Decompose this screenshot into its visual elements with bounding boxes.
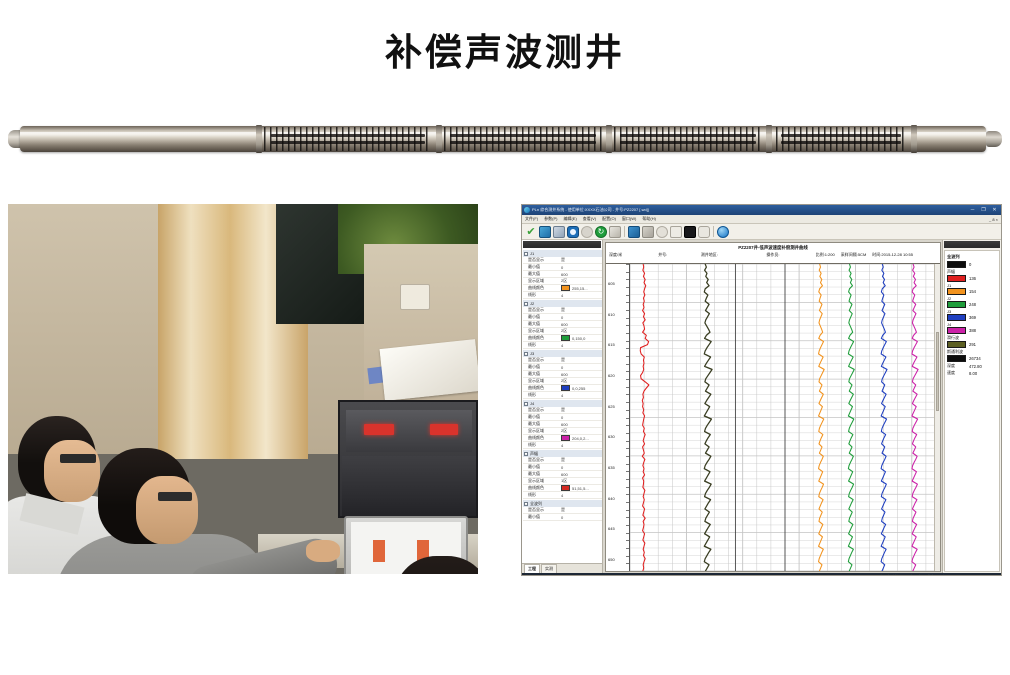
property-row[interactable]: 最小值0 — [523, 364, 602, 371]
property-value[interactable]: 是 — [561, 507, 602, 513]
readout-label: 速度 — [947, 370, 966, 376]
property-label: 最大值 — [528, 271, 561, 277]
property-group-header[interactable]: -J3 — [523, 350, 602, 357]
sonde-isolator-slots — [776, 127, 906, 151]
sonde-isolator-slots — [614, 127, 762, 151]
color-swatch[interactable] — [561, 335, 570, 341]
sonde-joint-ring — [256, 125, 262, 153]
legend-title: 全波列 — [947, 254, 997, 260]
property-value-text: 2区 — [561, 428, 567, 434]
property-label: 曲线颜色 — [528, 435, 561, 441]
property-value-text: 0,0,255 — [572, 386, 585, 391]
depth-tick — [626, 563, 629, 564]
field-operator: 操作员: — [766, 252, 815, 258]
property-label: 显示区域 — [528, 278, 561, 284]
depth-tick — [626, 356, 629, 357]
photo-rack-panel — [346, 410, 472, 452]
depth-tick — [626, 272, 629, 273]
property-row[interactable]: 曲线颜色255,15... — [523, 285, 602, 292]
property-label: 线形 — [528, 292, 561, 298]
depth-tick — [626, 517, 629, 518]
expander-icon[interactable]: - — [524, 452, 528, 456]
toolbar-separator — [624, 226, 625, 237]
mdi-window-controls[interactable]: _ 8 × — [989, 217, 998, 222]
property-row[interactable]: 线形4 — [523, 342, 602, 349]
legend-entry-value: 26734 — [969, 356, 981, 361]
chart-icon[interactable] — [553, 226, 565, 238]
photo-rack-lower — [342, 456, 476, 516]
property-value[interactable]: 1区 — [561, 478, 602, 484]
property-value-text: 0 — [561, 465, 563, 470]
property-group-header[interactable]: -J1 — [523, 250, 602, 257]
property-value[interactable]: 0 — [561, 315, 602, 320]
log-canvas[interactable]: 605610615620625630635640645650 — [606, 264, 940, 571]
depth-tick — [626, 402, 629, 403]
legend-list: 全波列0声幅136J1154J2248J3369J4388滑行波291斯通利波2… — [944, 250, 1000, 572]
property-row[interactable]: 线形4 — [523, 442, 602, 449]
property-row[interactable]: 最小值0 — [523, 264, 602, 271]
legend-entry-value: 0 — [969, 262, 971, 267]
property-value[interactable]: 0,150,0 — [561, 335, 602, 341]
depth-tick — [626, 494, 629, 495]
property-row[interactable]: 是否显示是 — [523, 357, 602, 364]
legend-entry-value: 248 — [969, 302, 976, 307]
property-row[interactable]: 曲线颜色204,0,2... — [523, 435, 602, 442]
property-label: 最小值 — [528, 414, 561, 420]
property-group[interactable]: -J2是否显示是最小值0最大值600显示区域2区曲线颜色0,150,0线形4 — [523, 300, 602, 349]
legend-entry[interactable]: 136 — [947, 275, 997, 282]
property-value-text: 2区 — [561, 378, 567, 384]
status-company: 北京中地星通物探仪器有限公司 — [902, 575, 956, 577]
property-group[interactable]: -J1是否显示是最小值0最大值600显示区域2区曲线颜色255,15...线形4 — [523, 250, 602, 299]
depth-tick — [626, 410, 629, 411]
property-label: 曲线颜色 — [528, 335, 561, 341]
clock-icon[interactable] — [656, 226, 668, 238]
color-swatch[interactable] — [561, 435, 570, 441]
property-label: 显示区域 — [528, 478, 561, 484]
property-row[interactable]: 显示区域2区 — [523, 378, 602, 385]
property-label: 显示区域 — [528, 428, 561, 434]
log-header: PZ2207井-低声波速度补偿测井曲线 深度/米 井号: 测井地区: 操作员: … — [606, 243, 940, 264]
property-row[interactable]: 最小值0 — [523, 314, 602, 321]
property-row[interactable]: 曲线颜色0,150,0 — [523, 335, 602, 342]
legend-entry-value: 136 — [969, 276, 976, 281]
property-group-label: J4 — [530, 401, 534, 406]
property-group[interactable]: -全波列是否显示是最小值0 — [523, 500, 602, 521]
property-value[interactable]: 2区 — [561, 428, 602, 434]
depth-tick — [626, 333, 629, 334]
panel-header — [523, 241, 601, 248]
property-row[interactable]: 最小值0 — [523, 414, 602, 421]
property-label: 线形 — [528, 392, 561, 398]
scrollbar-thumb[interactable] — [936, 332, 939, 412]
property-label: 线形 — [528, 342, 561, 348]
property-value-text: 是 — [561, 257, 565, 263]
property-value-text: 4 — [561, 343, 563, 348]
menu-item-params[interactable]: 参数(P) — [544, 216, 557, 222]
property-value-text: 204,0,2... — [572, 436, 589, 441]
color-swatch[interactable] — [561, 485, 570, 491]
toolbar[interactable]: ✔ ↻ — [522, 224, 1001, 240]
curve-parameter-panel[interactable]: -J1是否显示是最小值0最大值600显示区域2区曲线颜色255,15...线形4… — [522, 240, 603, 573]
expander-icon[interactable]: - — [524, 352, 528, 356]
property-value[interactable]: 4 — [561, 393, 602, 398]
legend-entry[interactable]: 388 — [947, 327, 997, 334]
property-row[interactable]: 最大值600 — [523, 421, 602, 428]
legend-color-swatch[interactable] — [947, 288, 966, 295]
depth-tick — [626, 279, 629, 280]
property-value-text: 600 — [561, 422, 568, 427]
depth-tick — [626, 318, 629, 319]
menu-item-edit[interactable]: 编辑(E) — [563, 216, 576, 222]
property-group-header[interactable]: -声幅 — [523, 450, 602, 457]
field-time: 时间:2015-12-28 10:55 — [872, 252, 913, 258]
window-title: PLn 综合测井系统 - 使用单位:XXXX石油公司 - 井号:PZ2207 [… — [532, 207, 966, 213]
property-value-text: 是 — [561, 507, 565, 513]
legend-panel[interactable]: 全波列0声幅136J1154J2248J3369J4388滑行波291斯通利波2… — [942, 240, 1001, 573]
depth-tick — [626, 425, 629, 426]
legend-readout: 速度8.00 — [947, 370, 997, 376]
legend-panel-header — [944, 241, 1000, 248]
property-value[interactable]: 4 — [561, 343, 602, 348]
property-value-text: 255,15... — [572, 286, 588, 291]
property-label: 是否显示 — [528, 407, 561, 413]
property-label: 曲线颜色 — [528, 285, 561, 291]
property-group-label: J1 — [530, 251, 534, 256]
property-group[interactable]: -J4是否显示是最小值0最大值600显示区域2区曲线颜色204,0,2...线形… — [523, 400, 602, 449]
depth-tick — [626, 456, 629, 457]
property-value-text: 600 — [561, 372, 568, 377]
property-value-text: 2区 — [561, 328, 567, 334]
property-value[interactable]: 4 — [561, 493, 602, 498]
window-icon[interactable] — [670, 226, 682, 238]
depth-tick — [626, 548, 629, 549]
property-group-label: J3 — [530, 351, 534, 356]
photo-documents — [380, 339, 478, 401]
property-value[interactable]: 是 — [561, 257, 602, 263]
depth-label: 625 — [608, 404, 615, 409]
property-value[interactable]: 2区 — [561, 328, 602, 334]
property-value[interactable]: 600 — [561, 322, 602, 327]
depth-tick — [626, 387, 629, 388]
property-row[interactable]: 显示区域2区 — [523, 278, 602, 285]
property-label: 线形 — [528, 442, 561, 448]
depth-tick — [626, 479, 629, 480]
field-crew-photo — [8, 204, 478, 574]
property-group-label: 声幅 — [530, 451, 538, 457]
stop-icon[interactable] — [581, 226, 593, 238]
photo-led-display — [430, 424, 458, 435]
legend-entry[interactable]: 248 — [947, 301, 997, 308]
display-icon[interactable] — [628, 226, 640, 238]
legend-color-swatch[interactable] — [947, 341, 966, 348]
expander-icon[interactable]: - — [524, 502, 528, 506]
color-swatch[interactable] — [561, 385, 570, 391]
property-label: 最大值 — [528, 321, 561, 327]
property-value[interactable]: 51,51,5... — [561, 485, 602, 491]
log-sheet[interactable]: PZ2207井-低声波速度补偿测井曲线 深度/米 井号: 测井地区: 操作员: … — [605, 242, 941, 572]
property-value-text: 0,150,0 — [572, 336, 585, 341]
depth-tick — [626, 533, 629, 534]
photo-person-face — [44, 440, 100, 502]
logging-software-window[interactable]: PLn 综合测井系统 - 使用单位:XXXX石油公司 - 井号:PZ2207 [… — [521, 204, 1002, 576]
property-label: 线形 — [528, 492, 561, 498]
grid-icon[interactable] — [684, 226, 696, 238]
menu-bar[interactable]: 文件(F) 参数(P) 编辑(E) 查看(V) 配置(O) 窗口(W) 帮助(H… — [522, 215, 1001, 224]
property-value[interactable]: 600 — [561, 272, 602, 277]
property-value[interactable]: 0 — [561, 465, 602, 470]
depth-tick — [626, 379, 629, 380]
property-row[interactable]: 显示区域2区 — [523, 428, 602, 435]
legend-color-swatch[interactable] — [947, 275, 966, 282]
depth-tick — [626, 348, 629, 349]
property-tree[interactable]: -J1是否显示是最小值0最大值600显示区域2区曲线颜色255,15...线形4… — [522, 249, 602, 563]
menu-item-file[interactable]: 文件(F) — [525, 216, 538, 222]
toolbar-separator — [713, 226, 714, 237]
page-icon[interactable] — [698, 226, 710, 238]
property-row[interactable]: 曲线颜色0,0,255 — [523, 385, 602, 392]
property-label: 显示区域 — [528, 328, 561, 334]
property-label: 是否显示 — [528, 257, 561, 263]
menu-item-help[interactable]: 帮助(H) — [642, 216, 656, 222]
property-label: 是否显示 — [528, 307, 561, 313]
property-row[interactable]: 显示区域2区 — [523, 328, 602, 335]
legend-color-swatch[interactable] — [947, 301, 966, 308]
property-value[interactable]: 600 — [561, 472, 602, 477]
legend-entry-value: 291 — [969, 342, 976, 347]
property-row[interactable]: 线形4 — [523, 392, 602, 399]
property-label: 显示区域 — [528, 378, 561, 384]
field-area: 测井地区: — [701, 252, 767, 258]
depth-tick — [626, 287, 629, 288]
status-connection: 工作面板连接 — [873, 575, 899, 577]
depth-tick — [626, 464, 629, 465]
property-label: 曲线颜色 — [528, 485, 561, 491]
depth-tick — [626, 471, 629, 472]
legend-entry[interactable]: 0 — [947, 261, 997, 268]
property-value-text: 2区 — [561, 278, 567, 284]
expander-icon[interactable]: - — [524, 402, 528, 406]
depth-tick — [626, 502, 629, 503]
property-value[interactable]: 是 — [561, 407, 602, 413]
photo-person-face — [136, 476, 198, 544]
property-row[interactable]: 曲线颜色51,51,5... — [523, 485, 602, 492]
legend-entry[interactable]: 291 — [947, 341, 997, 348]
property-value-text: 0 — [561, 265, 563, 270]
property-label: 最小值 — [528, 464, 561, 470]
property-value[interactable]: 4 — [561, 443, 602, 448]
property-value-text: 600 — [561, 272, 568, 277]
depth-tick — [626, 556, 629, 557]
app-icon — [524, 207, 530, 213]
depth-tick — [626, 418, 629, 419]
property-row[interactable]: 最小值0 — [523, 514, 602, 521]
property-row[interactable]: 最大值600 — [523, 371, 602, 378]
property-label: 是否显示 — [528, 507, 561, 513]
menu-item-config[interactable]: 配置(O) — [602, 216, 616, 222]
property-value-text: 4 — [561, 393, 563, 398]
legend-entry-value: 154 — [969, 289, 976, 294]
status-ready: 就绪 — [525, 575, 532, 577]
property-value[interactable]: 4 — [561, 293, 602, 298]
depth-tick — [626, 325, 629, 326]
property-value-text: 600 — [561, 322, 568, 327]
property-group-header[interactable]: -全波列 — [523, 500, 602, 507]
depth-tick — [626, 302, 629, 303]
menu-item-view[interactable]: 查看(V) — [583, 216, 596, 222]
property-value[interactable]: 是 — [561, 307, 602, 313]
field-scale: 比例:1:200 — [816, 252, 835, 258]
property-value[interactable]: 600 — [561, 372, 602, 377]
vertical-scrollbar[interactable] — [934, 264, 940, 571]
legend-color-swatch[interactable] — [947, 314, 966, 321]
panel-tabs[interactable]: 工程 实测 — [522, 563, 602, 573]
property-label: 曲线颜色 — [528, 385, 561, 391]
depth-tick — [626, 525, 629, 526]
depth-tick — [626, 540, 629, 541]
field-sampling: 采样间隔:5CM — [841, 252, 867, 258]
close-icon[interactable]: ✕ — [990, 206, 999, 214]
property-value-text: 是 — [561, 457, 565, 463]
sonde-tail-cap — [986, 131, 1002, 147]
property-value-text: 是 — [561, 307, 565, 313]
property-label: 最小值 — [528, 314, 561, 320]
field-depth: 深度/米 — [609, 252, 658, 258]
property-row[interactable]: 显示区域1区 — [523, 478, 602, 485]
property-value-text: 51,51,5... — [572, 486, 589, 491]
window-body: -J1是否显示是最小值0最大值600显示区域2区曲线颜色255,15...线形4… — [522, 240, 1001, 573]
window-titlebar[interactable]: PLn 综合测井系统 - 使用单位:XXXX石油公司 - 井号:PZ2207 [… — [522, 205, 1001, 215]
sonde-isolator-slots — [444, 127, 602, 151]
depth-tick — [626, 433, 629, 434]
sonde-joint-ring — [911, 125, 917, 153]
depth-tick — [626, 310, 629, 311]
depth-tick — [626, 364, 629, 365]
property-value[interactable]: 600 — [561, 422, 602, 427]
legend-entry[interactable]: 154 — [947, 288, 997, 295]
property-value[interactable]: 0 — [561, 265, 602, 270]
depth-icon[interactable] — [609, 226, 621, 238]
tab-measured[interactable]: 实测 — [541, 564, 557, 573]
property-value-text: 0 — [561, 515, 563, 520]
legend-color-swatch[interactable] — [947, 261, 966, 268]
property-row[interactable]: 最大值600 — [523, 271, 602, 278]
property-value-text: 4 — [561, 493, 563, 498]
depth-tick — [626, 510, 629, 511]
property-group-label: 全波列 — [530, 501, 542, 507]
property-value-text: 0 — [561, 315, 563, 320]
property-value[interactable]: 0,0,255 — [561, 385, 602, 391]
property-group-label: J2 — [530, 301, 534, 306]
refresh-icon[interactable]: ↻ — [595, 226, 607, 238]
tab-engineering[interactable]: 工程 — [524, 564, 540, 573]
property-label: 最小值 — [528, 364, 561, 370]
depth-label: 640 — [608, 496, 615, 501]
legend-entry-value: 369 — [969, 315, 976, 320]
menu-item-window[interactable]: 窗口(W) — [622, 216, 636, 222]
property-row[interactable]: 是否显示是 — [523, 407, 602, 414]
property-row[interactable]: 线形4 — [523, 492, 602, 499]
property-row[interactable]: 是否显示是 — [523, 457, 602, 464]
curve-tracks[interactable] — [630, 264, 940, 571]
property-value[interactable]: 255,15... — [561, 285, 602, 291]
property-value-text: 600 — [561, 472, 568, 477]
color-swatch[interactable] — [561, 285, 570, 291]
property-label: 最大值 — [528, 371, 561, 377]
property-row[interactable]: 是否显示是 — [523, 507, 602, 514]
property-row[interactable]: 线形4 — [523, 292, 602, 299]
help-icon[interactable] — [717, 226, 729, 238]
property-label: 最大值 — [528, 471, 561, 477]
depth-tick — [626, 295, 629, 296]
property-row[interactable]: 最大值600 — [523, 471, 602, 478]
save-icon[interactable] — [539, 226, 551, 238]
depth-label: 620 — [608, 373, 615, 378]
property-value[interactable]: 0 — [561, 415, 602, 420]
property-row[interactable]: 最大值600 — [523, 321, 602, 328]
property-group-header[interactable]: -J4 — [523, 400, 602, 407]
expander-icon[interactable]: - — [524, 302, 528, 306]
depth-label: 630 — [608, 434, 615, 439]
property-label: 是否显示 — [528, 357, 561, 363]
legend-color-swatch[interactable] — [947, 327, 966, 334]
photo-person-glasses — [60, 454, 96, 463]
sonde-joint-ring — [606, 125, 612, 153]
legend-entry-value: 388 — [969, 328, 976, 333]
depth-label: 650 — [608, 557, 615, 562]
readout-label: 深度 — [947, 363, 966, 369]
property-value[interactable]: 0 — [561, 365, 602, 370]
readout-value: 472.80 — [969, 364, 982, 369]
check-icon[interactable]: ✔ — [525, 226, 537, 238]
property-group[interactable]: -声幅是否显示是最小值0最大值600显示区域1区曲线颜色51,51,5...线形… — [523, 450, 602, 499]
property-group-header[interactable]: -J2 — [523, 300, 602, 307]
expander-icon[interactable]: - — [524, 252, 528, 256]
legend-color-swatch[interactable] — [947, 355, 966, 362]
photo-wall-outlet — [400, 284, 430, 310]
property-value[interactable]: 204,0,2... — [561, 435, 602, 441]
property-value[interactable]: 是 — [561, 357, 602, 363]
log-display-area[interactable]: PZ2207井-低声波速度补偿测井曲线 深度/米 井号: 测井地区: 操作员: … — [603, 240, 942, 573]
property-row[interactable]: 是否显示是 — [523, 257, 602, 264]
property-group[interactable]: -J3是否显示是最小值0最大值600显示区域2区曲线颜色0,0,255线形4 — [523, 350, 602, 399]
legend-entry[interactable]: 26734 — [947, 355, 997, 362]
status-bar: 就绪 工作面板连接 北京中地星通物探仪器有限公司 2015-12-28 10:5… — [522, 573, 1001, 576]
property-row[interactable]: 最小值0 — [523, 464, 602, 471]
record-icon[interactable] — [567, 226, 579, 238]
property-label: 是否显示 — [528, 457, 561, 463]
property-value[interactable]: 是 — [561, 457, 602, 463]
print-icon[interactable] — [642, 226, 654, 238]
legend-entry[interactable]: 369 — [947, 314, 997, 321]
status-timestamp: 2015-12-28 10:55:08 — [961, 575, 998, 576]
depth-label: 610 — [608, 312, 615, 317]
depth-tick — [626, 371, 629, 372]
property-value[interactable]: 2区 — [561, 378, 602, 384]
depth-tick — [626, 487, 629, 488]
property-row[interactable]: 是否显示是 — [523, 307, 602, 314]
minimize-icon[interactable]: ─ — [968, 206, 977, 214]
sonde-isolator-slots — [264, 127, 432, 151]
depth-label: 605 — [608, 281, 615, 286]
property-value-text: 0 — [561, 365, 563, 370]
maximize-icon[interactable]: ❐ — [979, 206, 988, 214]
property-value-text: 是 — [561, 407, 565, 413]
readout-value: 8.00 — [969, 371, 977, 376]
property-value[interactable]: 2区 — [561, 278, 602, 284]
depth-label: 615 — [608, 342, 615, 347]
property-value[interactable]: 0 — [561, 515, 602, 520]
